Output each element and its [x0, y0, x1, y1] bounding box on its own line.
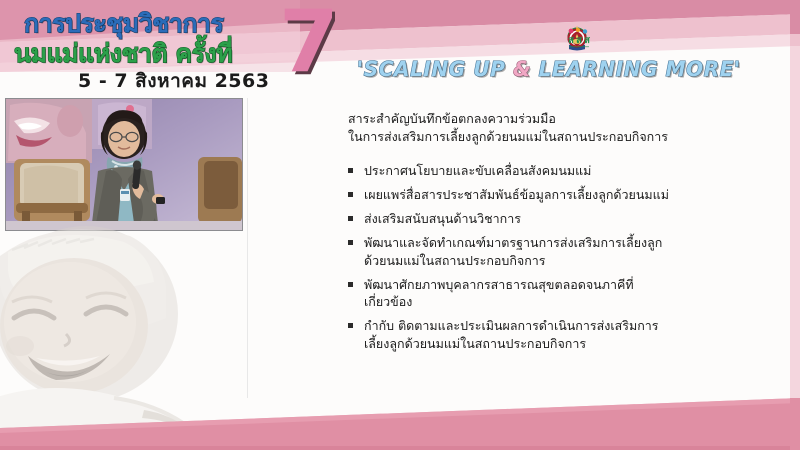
slide-content: สาระสำคัญบันทึกข้อตกลงความร่วมมือ ในการส…: [348, 110, 768, 359]
tagline-ampersand: &: [513, 57, 531, 81]
bullet-text-line1: เผยแพร่สื่อสารประชาสัมพันธ์ข้อมูลการเลี้…: [364, 187, 669, 202]
bullet-text-line2: ด้วยนมแม่ในสถานประกอบกิจการ: [364, 252, 768, 270]
content-divider: [247, 98, 248, 398]
svg-text:ส: ส: [568, 35, 574, 46]
list-item: กำกับ ติดตามและประเมินผลการดำเนินการส่งเ…: [348, 317, 768, 352]
logo-thaihealth-sss: สสส: [762, 28, 786, 56]
header-title-block: การประชุมวิชาการ นมแม่แห่งชาติ ครั้งที่ …: [0, 0, 300, 100]
bullet-square-icon: [348, 240, 353, 245]
sponsor-logos-row: ····· ····· สสส: [566, 26, 796, 58]
content-bullet-list: ประกาศนโยบายและขับเคลื่อนสังคมนมแม่ เผยแ…: [348, 162, 768, 352]
slide-canvas: การประชุมวิชาการ นมแม่แห่งชาติ ครั้งที่ …: [0, 0, 800, 450]
content-heading-line1: สาระสำคัญบันทึกข้อตกลงความร่วมมือ: [348, 110, 768, 128]
logo-royal-garuda-gold: [678, 28, 702, 56]
svg-text:ส: ส: [584, 35, 590, 46]
bullet-text-line1: กำกับ ติดตามและประเมินผลการดำเนินการส่งเ…: [364, 318, 659, 333]
footer-wave-decoration: [0, 390, 800, 450]
bullet-text-line2: เลี้ยงลูกด้วยนมแม่ในสถานประกอบกิจการ: [364, 335, 768, 353]
edition-number: 7: [279, 0, 339, 84]
slide-header: การประชุมวิชาการ นมแม่แห่งชาติ ครั้งที่ …: [0, 0, 800, 100]
bullet-text-line1: พัฒนาศักยภาพบุคลากรสาธารณสุขตลอดจนภาคีที…: [364, 277, 634, 292]
left-media-column: [0, 96, 247, 428]
tagline-part-after: LEARNING MORE': [531, 57, 741, 81]
list-item: พัฒนาและจัดทำเกณฑ์มาตรฐานการส่งเสริมการเ…: [348, 234, 768, 269]
logo-ministry-public-health-green-2: ·····: [622, 28, 646, 56]
logo-red-shield-emblem: [734, 28, 758, 56]
conference-tagline: 'SCALING UP & LEARNING MORE': [357, 57, 741, 81]
bullet-square-icon: [348, 192, 353, 197]
conference-date: 5 - 7 สิงหาคม 2563: [78, 66, 269, 96]
logo-ministry-public-health-green-1: ·····: [594, 28, 618, 56]
bullet-square-icon: [348, 216, 353, 221]
list-item: ส่งเสริมสนับสนุนด้านวิชาการ: [348, 210, 768, 228]
bullet-square-icon: [348, 323, 353, 328]
bullet-square-icon: [348, 282, 353, 287]
content-heading-line2: ในการส่งเสริมการเลี้ยงลูกด้วยนมแม่ในสถาน…: [348, 128, 768, 146]
svg-text:ส: ส: [576, 35, 582, 46]
bullet-square-icon: [348, 168, 353, 173]
logo-black-circle-emblem: [706, 28, 730, 56]
list-item: พัฒนาศักยภาพบุคลากรสาธารณสุขตลอดจนภาคีที…: [348, 276, 768, 311]
list-item: เผยแพร่สื่อสารประชาสัมพันธ์ข้อมูลการเลี้…: [348, 186, 768, 204]
logo-royal-emblem-red: [650, 28, 674, 56]
bullet-text-line2: เกี่ยวข้อง: [364, 293, 768, 311]
tagline-part-before: 'SCALING UP: [357, 57, 513, 81]
bullet-text-line1: ส่งเสริมสนับสนุนด้านวิชาการ: [364, 211, 521, 226]
right-edge-strip: [790, 0, 800, 450]
speaker-video-thumbnail: [5, 98, 243, 231]
bullet-text-line1: ประกาศนโยบายและขับเคลื่อนสังคมนมแม่: [364, 163, 591, 178]
list-item: ประกาศนโยบายและขับเคลื่อนสังคมนมแม่: [348, 162, 768, 180]
bullet-text-line1: พัฒนาและจัดทำเกณฑ์มาตรฐานการส่งเสริมการเ…: [364, 235, 662, 250]
